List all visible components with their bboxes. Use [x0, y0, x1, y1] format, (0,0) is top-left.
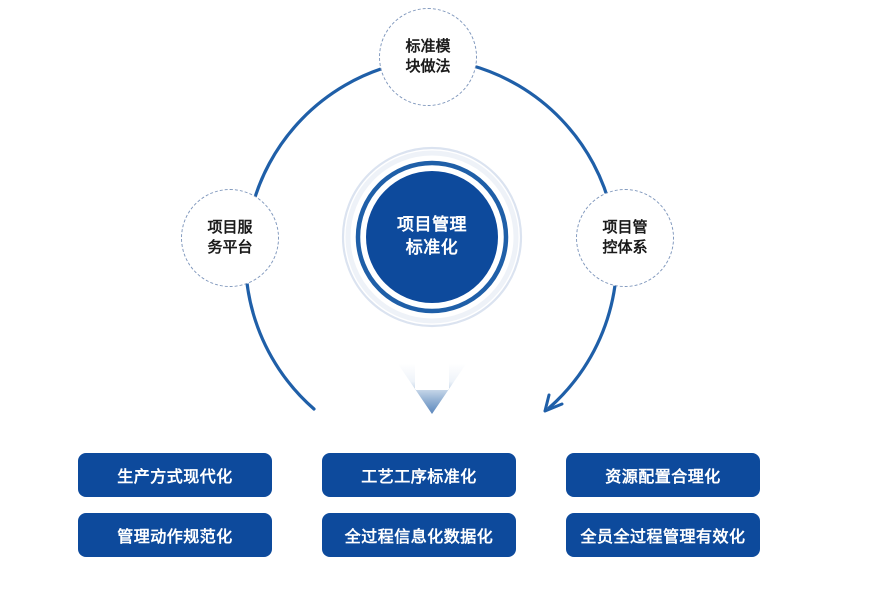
hub-center[interactable]: 项目管理 标准化	[366, 171, 498, 303]
outcome-label-2: 工艺工序标准化	[361, 463, 477, 487]
outcome-label-5: 全过程信息化数据化	[345, 523, 494, 547]
outcome-box-6[interactable]: 全员全过程管理有效化	[566, 513, 760, 557]
node-project-control-system[interactable]: 项目管 控体系	[576, 189, 674, 287]
outcome-label-3: 资源配置合理化	[605, 463, 721, 487]
outcome-box-4[interactable]: 管理动作规范化	[78, 513, 272, 557]
node-right-label: 项目管 控体系	[602, 218, 647, 259]
node-project-service-platform[interactable]: 项目服 务平台	[181, 189, 279, 287]
node-left-label: 项目服 务平台	[207, 218, 252, 259]
outcome-box-2[interactable]: 工艺工序标准化	[322, 453, 516, 497]
outcome-box-5[interactable]: 全过程信息化数据化	[322, 513, 516, 557]
down-arrow-icon	[398, 364, 466, 414]
outcome-box-1[interactable]: 生产方式现代化	[78, 453, 272, 497]
node-standard-module-practice[interactable]: 标准模 块做法	[379, 8, 477, 106]
outcome-box-3[interactable]: 资源配置合理化	[566, 453, 760, 497]
diagram-canvas: 项目管理 标准化 标准模 块做法 项目服 务平台 项目管 控体系 生产方式现代化…	[0, 0, 884, 590]
outcome-label-4: 管理动作规范化	[117, 523, 233, 547]
node-top-label: 标准模 块做法	[405, 37, 450, 78]
hub-center-label: 项目管理 标准化	[397, 214, 467, 260]
outcome-label-1: 生产方式现代化	[117, 463, 233, 487]
outcome-label-6: 全员全过程管理有效化	[580, 523, 745, 547]
